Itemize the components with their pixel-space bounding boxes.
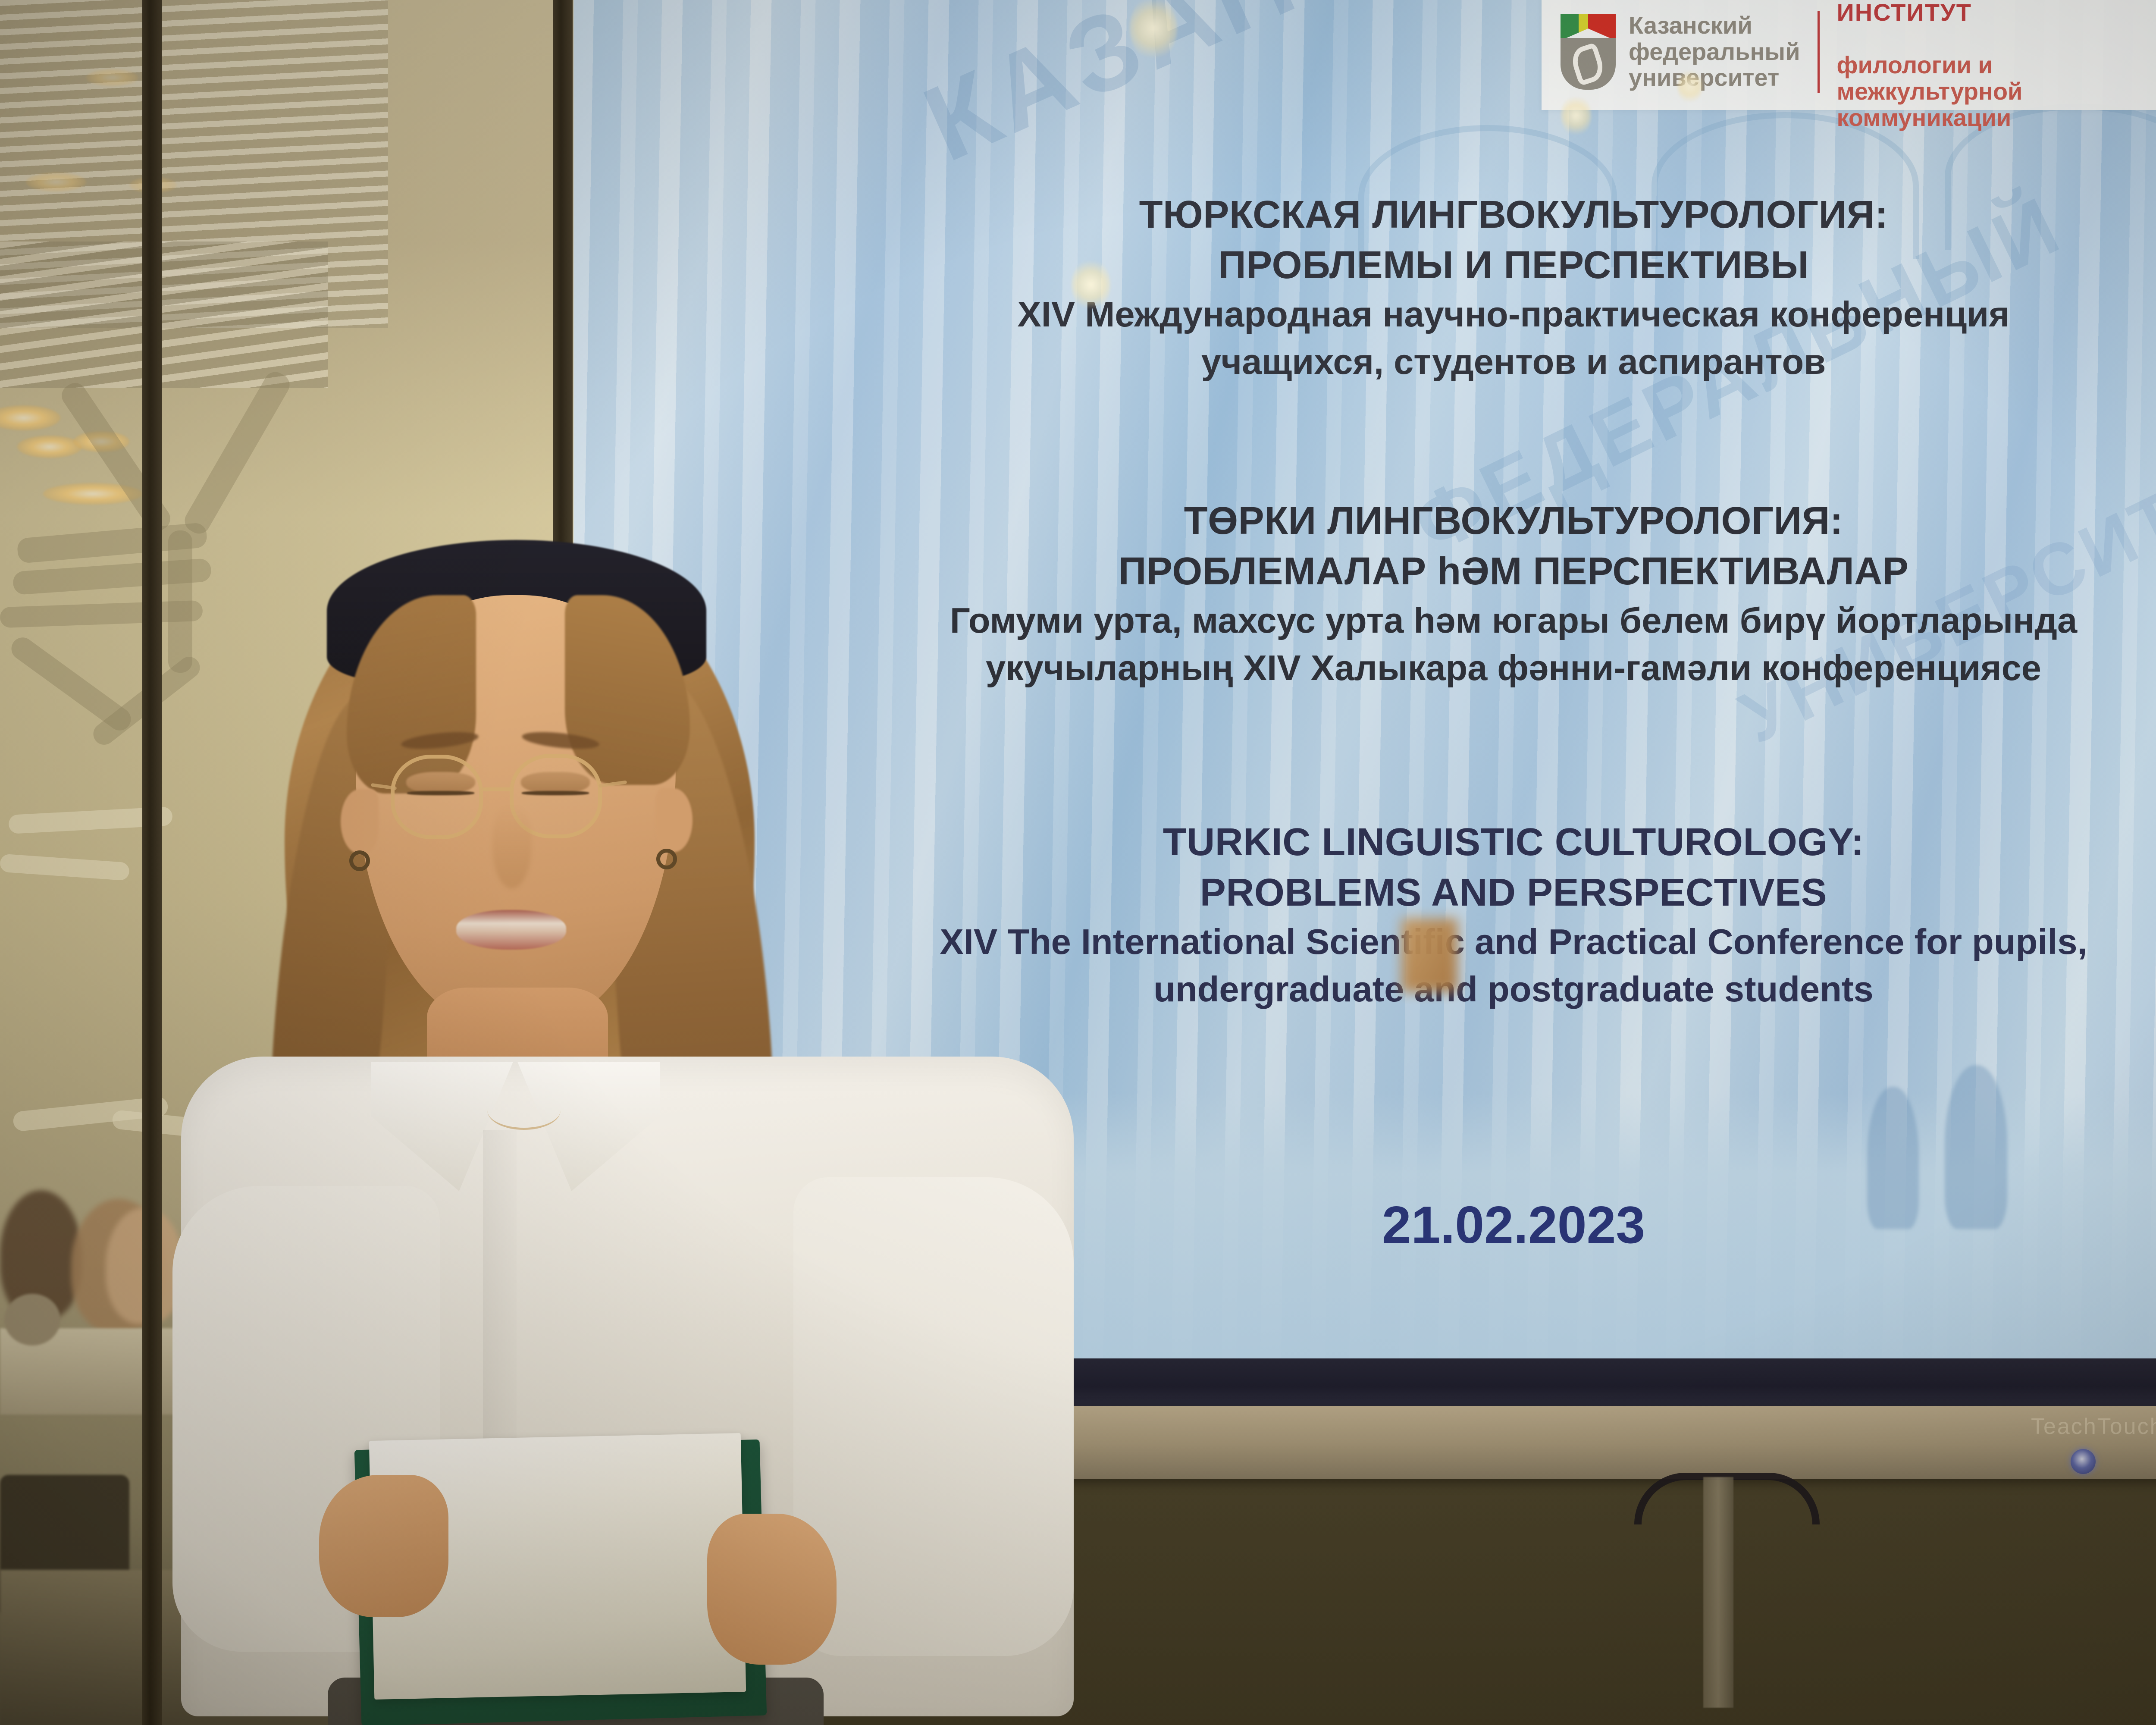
ceiling-light <box>26 172 86 191</box>
ear-left <box>341 789 379 854</box>
ear-right <box>655 788 693 852</box>
hair-occlusion <box>1401 919 1457 992</box>
partition-frame <box>142 0 162 1725</box>
earring-right-icon <box>656 849 677 869</box>
hand-left <box>319 1475 448 1617</box>
mouth <box>456 910 566 950</box>
hand-right <box>707 1514 837 1665</box>
institute-name-line2: филологии и межкультурной коммуникации <box>1837 51 2023 131</box>
university-name: Казанский федеральный университет <box>1629 13 1800 91</box>
ceiling-light <box>17 436 82 458</box>
russian-subtitle-line1: XIV Международная научно-практическая ко… <box>573 291 2156 338</box>
display-stand <box>1703 1477 1733 1708</box>
ceiling-light <box>86 69 138 86</box>
screen-glare <box>1561 95 1591 136</box>
screen-glare <box>1677 69 1702 103</box>
glasses-bridge <box>482 787 513 791</box>
russian-subtitle-line2: учащихся, студентов и аспирантов <box>573 338 2156 386</box>
institute-name-line1: ИНСТИТУТ <box>1837 0 1972 26</box>
necklace <box>487 1091 561 1130</box>
presentation-photo-scene: КАЗАНСКИЙ ФЕДЕРАЛЬНЫЙ УНИВЕРСИТЕТ Казанс… <box>0 0 2156 1725</box>
kfu-crest-icon <box>1561 14 1616 90</box>
earring-left-icon <box>349 850 370 871</box>
ceiling-slats-lower <box>0 241 328 388</box>
nose <box>492 806 531 888</box>
glasses-lens-left <box>391 755 483 839</box>
logo-divider <box>1818 11 1820 93</box>
speaker-person <box>185 530 1078 1725</box>
slide-block-russian: ТЮРКСКАЯ ЛИНГВОКУЛЬТУРОЛОГИЯ: ПРОБЛЕМЫ И… <box>573 190 2156 385</box>
screen-glare <box>1072 259 1110 310</box>
display-brand-label: TeachTouch <box>2031 1414 2156 1440</box>
kfu-logo-block: Казанский федеральный университет ИНСТИТ… <box>1542 0 2156 110</box>
institute-name: ИНСТИТУТ филологии и межкультурной комму… <box>1837 0 2156 131</box>
russian-title-line2: ПРОБЛЕМЫ И ПЕРСПЕКТИВЫ <box>573 240 2156 291</box>
russian-title-line1: ТЮРКСКАЯ ЛИНГВОКУЛЬТУРОЛОГИЯ: <box>573 190 2156 240</box>
furniture-object <box>4 1294 60 1345</box>
power-led-icon[interactable] <box>2071 1449 2096 1474</box>
